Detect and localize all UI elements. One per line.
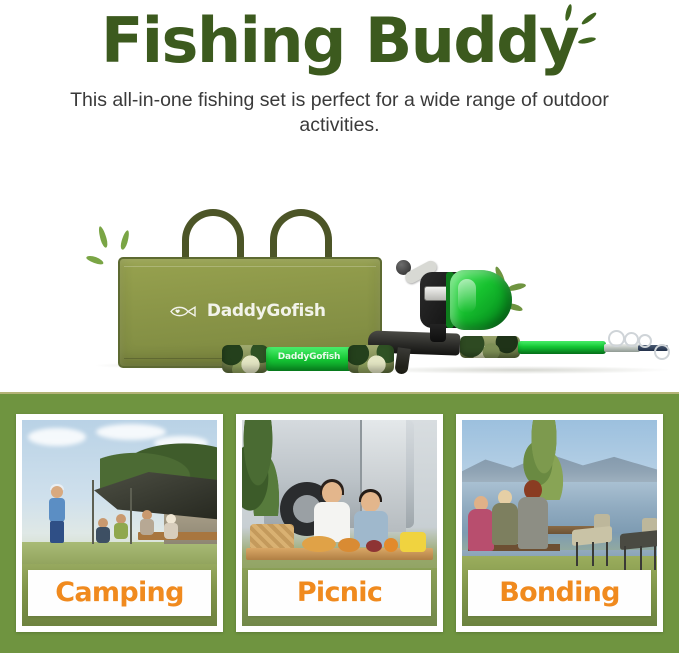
reel-foot xyxy=(430,324,446,342)
activity-card-picnic[interactable]: Picnic xyxy=(236,414,443,632)
bag-brand-text: DaddyGofish xyxy=(207,301,326,321)
fishing-rod-and-reel xyxy=(368,260,679,380)
person-child xyxy=(492,490,518,548)
rod-guide-icon xyxy=(638,334,652,348)
person-seated xyxy=(96,518,110,542)
rod-segment-green xyxy=(518,341,606,354)
hero-section: Fishing Buddy This all-in-one fishing se… xyxy=(0,0,679,392)
camo-tube-band: DaddyGofish xyxy=(266,347,352,371)
activity-card-bonding[interactable]: Bonding xyxy=(456,414,663,632)
picnic-label-band: Picnic xyxy=(248,570,431,616)
page-title: Fishing Buddy xyxy=(101,6,578,76)
rod-camo-grip xyxy=(460,336,520,358)
camping-photo: Camping xyxy=(22,420,217,626)
rod-guide-icon xyxy=(654,344,670,360)
person-seated xyxy=(164,514,178,538)
camping-label-band: Camping xyxy=(28,570,211,616)
camping-label: Camping xyxy=(55,578,183,608)
bonding-photo: Bonding xyxy=(462,420,657,626)
bonding-label: Bonding xyxy=(499,578,620,608)
person-seated xyxy=(140,510,154,534)
bonding-label-band: Bonding xyxy=(468,570,651,616)
rod-guide-icon xyxy=(608,330,625,347)
rod-camo-tube: DaddyGofish xyxy=(222,345,394,373)
picnic-label: Picnic xyxy=(297,578,382,608)
camo-tube-cap-left xyxy=(222,345,268,373)
leaf-dash-icon xyxy=(119,230,130,251)
leaf-dash-icon xyxy=(97,226,109,249)
page-subtitle: This all-in-one fishing set is perfect f… xyxy=(70,88,610,138)
camp-chair xyxy=(620,524,657,568)
person-standing xyxy=(48,486,66,544)
activity-card-camping[interactable]: Camping xyxy=(16,414,223,632)
fish-heart-icon xyxy=(170,305,196,318)
bag-brand-logo: DaddyGofish xyxy=(118,301,378,321)
camo-tube-brand-text: DaddyGofish xyxy=(266,352,352,362)
camp-chair xyxy=(572,520,612,564)
strip-hairline xyxy=(0,392,679,394)
person-adult xyxy=(518,480,548,550)
product-marketing-page: Fishing Buddy This all-in-one fishing se… xyxy=(0,0,679,653)
camo-tube-cap-right xyxy=(348,345,394,373)
person-child xyxy=(468,496,494,554)
picnic-photo: Picnic xyxy=(242,420,437,626)
reel-cone xyxy=(450,270,512,330)
sparkle-dashes-icon xyxy=(538,2,618,62)
leaf-dash-icon xyxy=(86,254,105,266)
person-seated xyxy=(114,514,128,538)
activity-strip: Camping xyxy=(0,392,679,653)
activity-card-list: Camping xyxy=(0,414,679,632)
rod-guide-icon xyxy=(624,332,639,347)
rod-shadow xyxy=(368,366,668,374)
